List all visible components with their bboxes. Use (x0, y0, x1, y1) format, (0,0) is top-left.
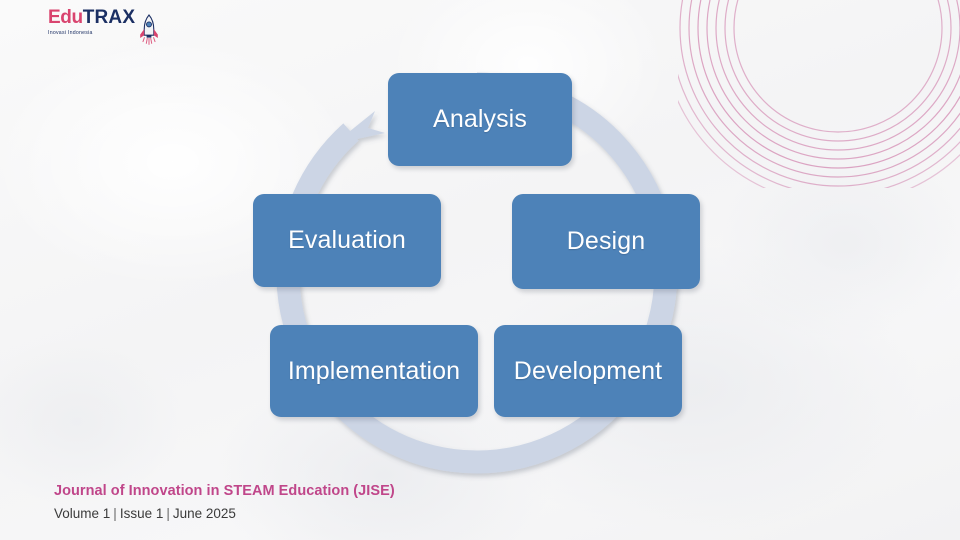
logo-word-edu: Edu (48, 7, 83, 28)
rocket-icon (132, 12, 166, 46)
edutrax-logo: EduTRAX Inovasi Indonesia (48, 8, 198, 48)
stage-box-design[interactable]: Design (512, 194, 700, 289)
logo-word-trax: TRAX (83, 7, 136, 28)
stage-box-implementation[interactable]: Implementation (270, 325, 478, 417)
stage-label-analysis: Analysis (433, 105, 527, 134)
stage-box-development[interactable]: Development (494, 325, 682, 417)
separator-2: | (163, 506, 173, 521)
date-label: June 2025 (173, 506, 236, 521)
stage-box-analysis[interactable]: Analysis (388, 73, 572, 166)
journal-title: Journal of Innovation in STEAM Education… (54, 481, 574, 501)
concentric-arcs-decoration (678, 0, 960, 188)
stage-label-evaluation: Evaluation (288, 226, 406, 255)
slide-canvas: EduTRAX Inovasi Indonesia (0, 0, 960, 540)
stage-label-implementation: Implementation (288, 357, 460, 386)
logo-tagline: Inovasi Indonesia (48, 30, 198, 36)
logo-wordmark: EduTRAX (48, 8, 198, 28)
stage-box-evaluation[interactable]: Evaluation (253, 194, 441, 287)
issue-line: Volume 1|Issue 1|June 2025 (54, 504, 574, 524)
volume-label: Volume 1 (54, 506, 110, 521)
issue-label: Issue 1 (120, 506, 164, 521)
stage-label-design: Design (567, 227, 645, 256)
separator-1: | (110, 506, 120, 521)
stage-label-development: Development (514, 357, 662, 386)
slide-footer: Journal of Innovation in STEAM Education… (54, 481, 574, 524)
